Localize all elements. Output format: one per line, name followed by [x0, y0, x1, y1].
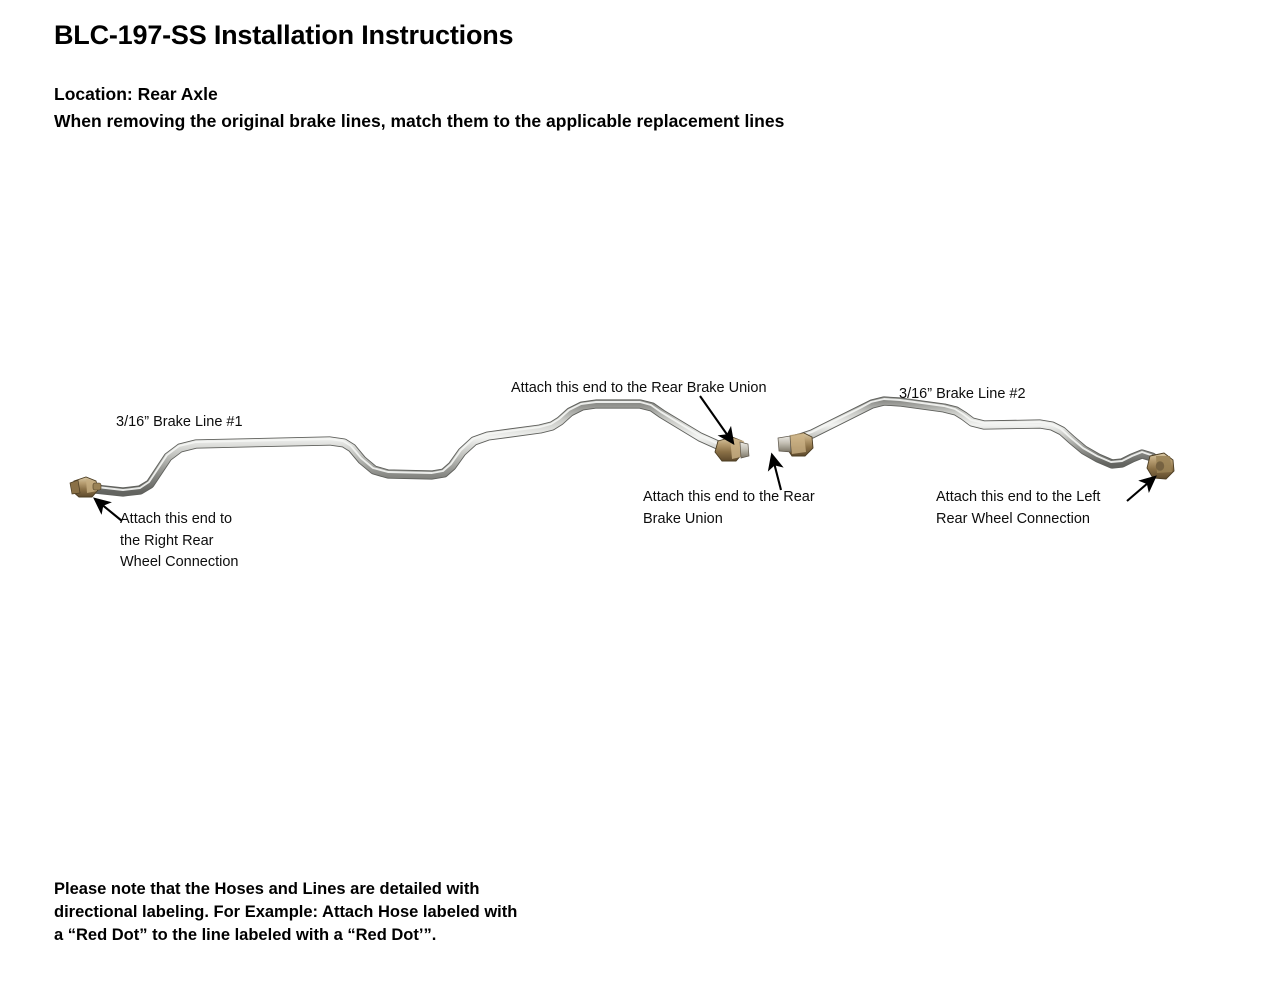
callout-rear-brake-union-upper: Attach this end to the Rear Brake Union [511, 378, 767, 400]
brake-line-1-left-fitting [70, 477, 101, 497]
callout-rear-brake-union-lower: Attach this end to the Rear Brake Union [643, 487, 815, 530]
arrow-line1-right-rear-wheel [95, 499, 122, 521]
document-page: BLC-197-SS Installation Instructions Loc… [0, 0, 1280, 989]
arrow-rear-brake-union-bottom [772, 455, 781, 490]
brake-line-2-tube [788, 399, 1160, 464]
brake-line-2-left-fitting [778, 433, 813, 456]
arrow-line2-left-rear-wheel [1127, 477, 1155, 501]
brake-line-2-right-fitting [1147, 453, 1174, 479]
callout-brake-line-1-right-rear-wheel: Attach this end to the Right Rear Wheel … [120, 509, 239, 574]
callout-brake-line-1-label: 3/16” Brake Line #1 [116, 412, 243, 434]
callout-brake-line-2-label: 3/16” Brake Line #2 [899, 384, 1026, 406]
callout-brake-line-2-left-rear-wheel: Attach this end to the Left Rear Wheel C… [936, 487, 1100, 530]
footer-note: Please note that the Hoses and Lines are… [54, 878, 524, 947]
